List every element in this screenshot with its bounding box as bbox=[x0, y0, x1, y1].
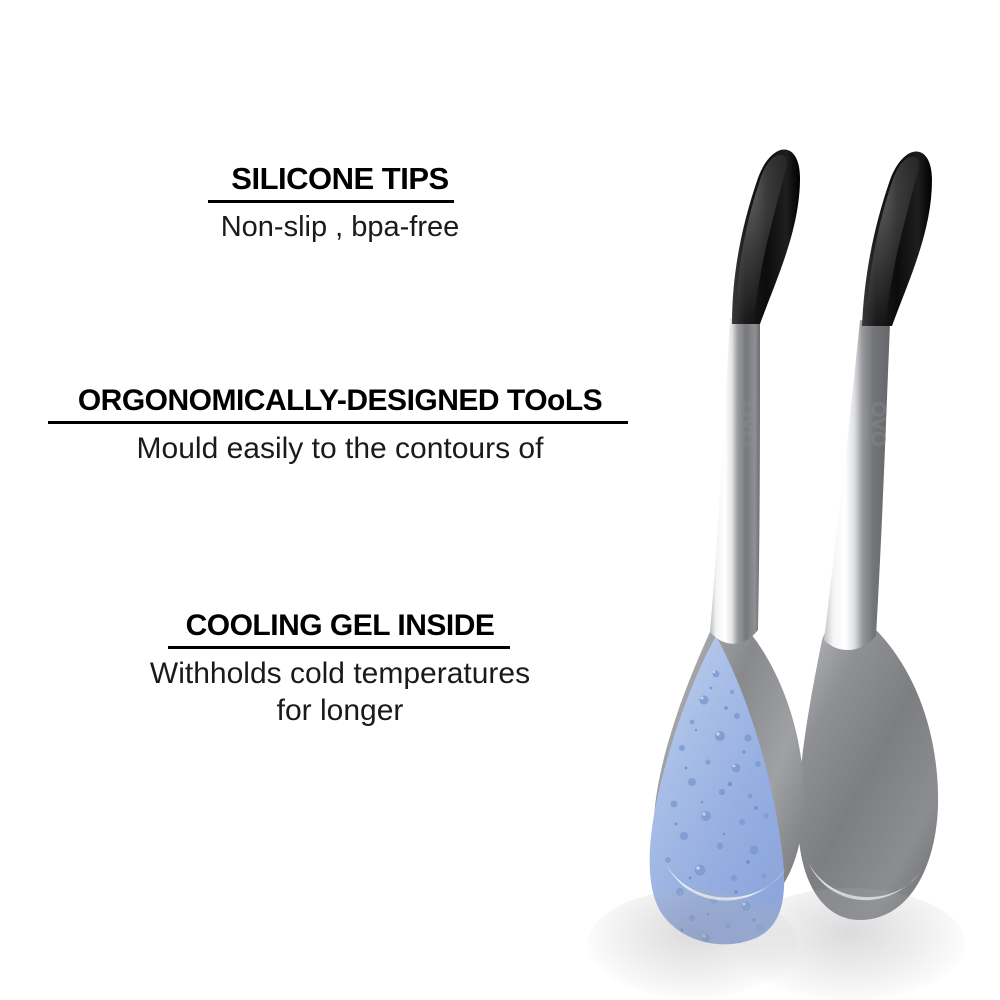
svg-text:OVO: OVO bbox=[867, 402, 888, 447]
feature-body-text: Non-slip , bpa-free bbox=[180, 209, 500, 245]
product-image: OVO bbox=[560, 120, 1000, 1000]
feature-heading: COOLING GEL INSIDE bbox=[110, 610, 570, 642]
feature-block-silicone-tips: SILICONE TIPS Non-slip , bpa-free bbox=[180, 163, 500, 245]
tool-right-stem bbox=[824, 320, 890, 650]
feature-block-ergonomic-tools: ORGONOMICALLY-DESIGNED TOoLS Mould easil… bbox=[40, 385, 640, 467]
feature-underline bbox=[168, 646, 510, 649]
tool-left-engraving-ovo-icon: OVO bbox=[737, 402, 758, 447]
feature-heading: SILICONE TIPS bbox=[180, 163, 500, 196]
feature-body-text: Mould easily to the contours of bbox=[40, 430, 640, 468]
feature-heading: ORGONOMICALLY-DESIGNED TOoLS bbox=[40, 385, 640, 417]
cooling-tools-illustration: OVO bbox=[560, 120, 1000, 1000]
feature-underline bbox=[48, 421, 628, 424]
tool-right-bowl bbox=[798, 618, 938, 920]
product-infographic: SILICONE TIPS Non-slip , bpa-free ORGONO… bbox=[0, 0, 1000, 1000]
feature-body-text: Withholds cold temperaturesfor longer bbox=[110, 655, 570, 730]
tool-right-engraving-ovo-icon: OVO bbox=[867, 402, 888, 447]
tool-left: OVO bbox=[650, 150, 804, 947]
tool-right: OVO bbox=[798, 152, 938, 921]
tool-left-stem bbox=[710, 318, 760, 644]
svg-text:OVO: OVO bbox=[737, 402, 758, 447]
feature-underline bbox=[208, 200, 454, 203]
feature-block-cooling-gel: COOLING GEL INSIDE Withholds cold temper… bbox=[110, 610, 570, 730]
